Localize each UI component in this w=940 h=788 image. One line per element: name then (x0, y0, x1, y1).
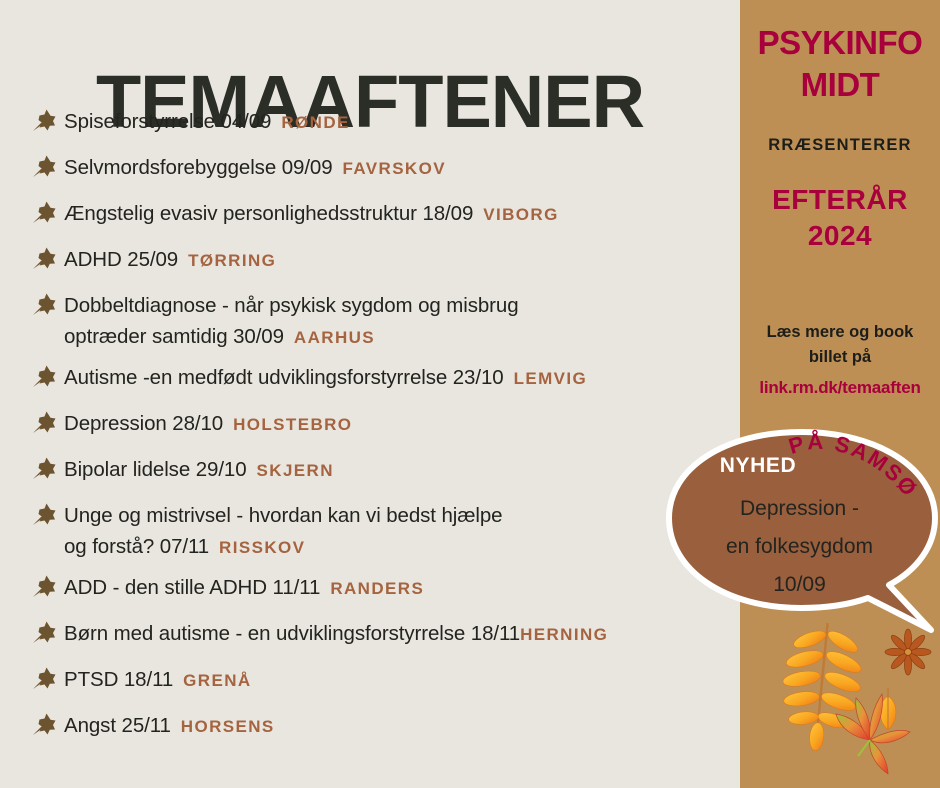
event-text: Unge og mistrivsel - hvordan kan vi beds… (64, 498, 740, 563)
event-city: AARHUS (294, 328, 375, 347)
brand-name-line2: MIDT (740, 64, 940, 106)
event-title: Angst 25/11 (64, 714, 171, 737)
pushpin-icon (30, 664, 58, 692)
event-title: ADHD 25/09 (64, 248, 178, 271)
pushpin-icon (30, 408, 58, 436)
pushpin-icon (30, 290, 58, 318)
season-label: EFTERÅR 2024 (740, 182, 940, 254)
event-title: PTSD 18/11 (64, 668, 173, 691)
pushpin-icon (30, 198, 58, 226)
pushpin-icon (30, 454, 58, 482)
event-text: Dobbeltdiagnose - når psykisk sygdom og … (64, 288, 740, 353)
pushpin-icon (30, 244, 58, 272)
event-row[interactable]: Spiseforstyrrelse 04/09RØNDE (0, 104, 740, 144)
event-text: ADD - den stille ADHD 11/11RANDERS (64, 570, 740, 604)
event-city: TØRRING (188, 251, 276, 270)
temaaftener-poster: TEMAAFTENER Spiseforstyrrelse 04/09RØNDE… (0, 0, 940, 788)
event-city: RISSKOV (219, 538, 305, 557)
event-row[interactable]: ADHD 25/09TØRRING (0, 242, 740, 282)
brand-name: PSYKINFO MIDT (740, 22, 940, 106)
event-row[interactable]: Autisme -en medfødt udviklingsforstyrrel… (0, 360, 740, 400)
event-title: Børn med autisme - en udviklingsforstyrr… (64, 622, 520, 645)
event-text: Ængstelig evasiv personlighedsstruktur 1… (64, 196, 740, 230)
event-text: Selvmordsforebyggelse 09/09FAVRSKOV (64, 150, 740, 184)
pushpin-icon (30, 152, 58, 180)
event-row[interactable]: PTSD 18/11GRENÅ (0, 662, 740, 702)
event-city: HERNING (520, 625, 608, 644)
event-row[interactable]: Bipolar lidelse 29/10SKJERN (0, 452, 740, 492)
event-text: Angst 25/11HORSENS (64, 708, 740, 742)
event-city: RANDERS (330, 579, 424, 598)
event-city: VIBORG (483, 205, 558, 224)
pushpin-icon (30, 618, 58, 646)
event-city: GRENÅ (183, 671, 251, 690)
pushpin-icon (30, 572, 58, 600)
event-text: Børn med autisme - en udviklingsforstyrr… (64, 616, 740, 650)
event-city: RØNDE (281, 113, 349, 132)
booking-link[interactable]: link.rm.dk/temaaften (740, 378, 940, 398)
event-city: SKJERN (257, 461, 334, 480)
event-title: Spiseforstyrrelse 04/09 (64, 110, 271, 133)
event-title: Autisme -en medfødt udviklingsforstyrrel… (64, 366, 504, 389)
event-city: LEMVIG (514, 369, 588, 388)
event-title: Depression 28/10 (64, 412, 223, 435)
event-title: Selvmordsforebyggelse 09/09 (64, 156, 333, 179)
pushpin-icon (30, 106, 58, 134)
event-text: PTSD 18/11GRENÅ (64, 662, 740, 696)
event-title: Ængstelig evasiv personlighedsstruktur 1… (64, 202, 473, 225)
presents-label: RRÆSENTERER (740, 136, 940, 155)
event-row[interactable]: ADD - den stille ADHD 11/11RANDERS (0, 570, 740, 610)
event-text: Autisme -en medfødt udviklingsforstyrrel… (64, 360, 740, 394)
event-text: Spiseforstyrrelse 04/09RØNDE (64, 104, 740, 138)
event-row[interactable]: Børn med autisme - en udviklingsforstyrr… (0, 616, 740, 656)
event-city: HORSENS (181, 717, 275, 736)
season-label-line2: 2024 (740, 218, 940, 254)
event-title: Bipolar lidelse 29/10 (64, 458, 247, 481)
event-row[interactable]: Dobbeltdiagnose - når psykisk sygdom og … (0, 288, 740, 354)
booking-note: Læs mere og book billet på (746, 320, 934, 370)
event-city: FAVRSKOV (343, 159, 446, 178)
event-city: HOLSTEBRO (233, 415, 352, 434)
main-content-column: TEMAAFTENER Spiseforstyrrelse 04/09RØNDE… (0, 0, 740, 788)
event-row[interactable]: Ængstelig evasiv personlighedsstruktur 1… (0, 196, 740, 236)
event-text: Bipolar lidelse 29/10SKJERN (64, 452, 740, 486)
event-row[interactable]: Unge og mistrivsel - hvordan kan vi beds… (0, 498, 740, 564)
event-title: Dobbeltdiagnose - når psykisk sygdom og … (64, 294, 519, 348)
event-text: ADHD 25/09TØRRING (64, 242, 740, 276)
pushpin-icon (30, 710, 58, 738)
event-row[interactable]: Angst 25/11HORSENS (0, 708, 740, 748)
season-label-line1: EFTERÅR (740, 182, 940, 218)
pushpin-icon (30, 362, 58, 390)
pushpin-icon (30, 500, 58, 528)
event-list: Spiseforstyrrelse 04/09RØNDESelvmordsfor… (0, 104, 740, 754)
event-row[interactable]: Depression 28/10HOLSTEBRO (0, 406, 740, 446)
nyhed-speech-bubble: NYHED Depression - en folkesygdom 10/09 … (663, 428, 940, 643)
event-row[interactable]: Selvmordsforebyggelse 09/09FAVRSKOV (0, 150, 740, 190)
event-title: ADD - den stille ADHD 11/11 (64, 576, 320, 599)
brand-name-line1: PSYKINFO (740, 22, 940, 64)
event-text: Depression 28/10HOLSTEBRO (64, 406, 740, 440)
sidebar-panel: PSYKINFO MIDT RRÆSENTERER EFTERÅR 2024 L… (740, 0, 940, 788)
